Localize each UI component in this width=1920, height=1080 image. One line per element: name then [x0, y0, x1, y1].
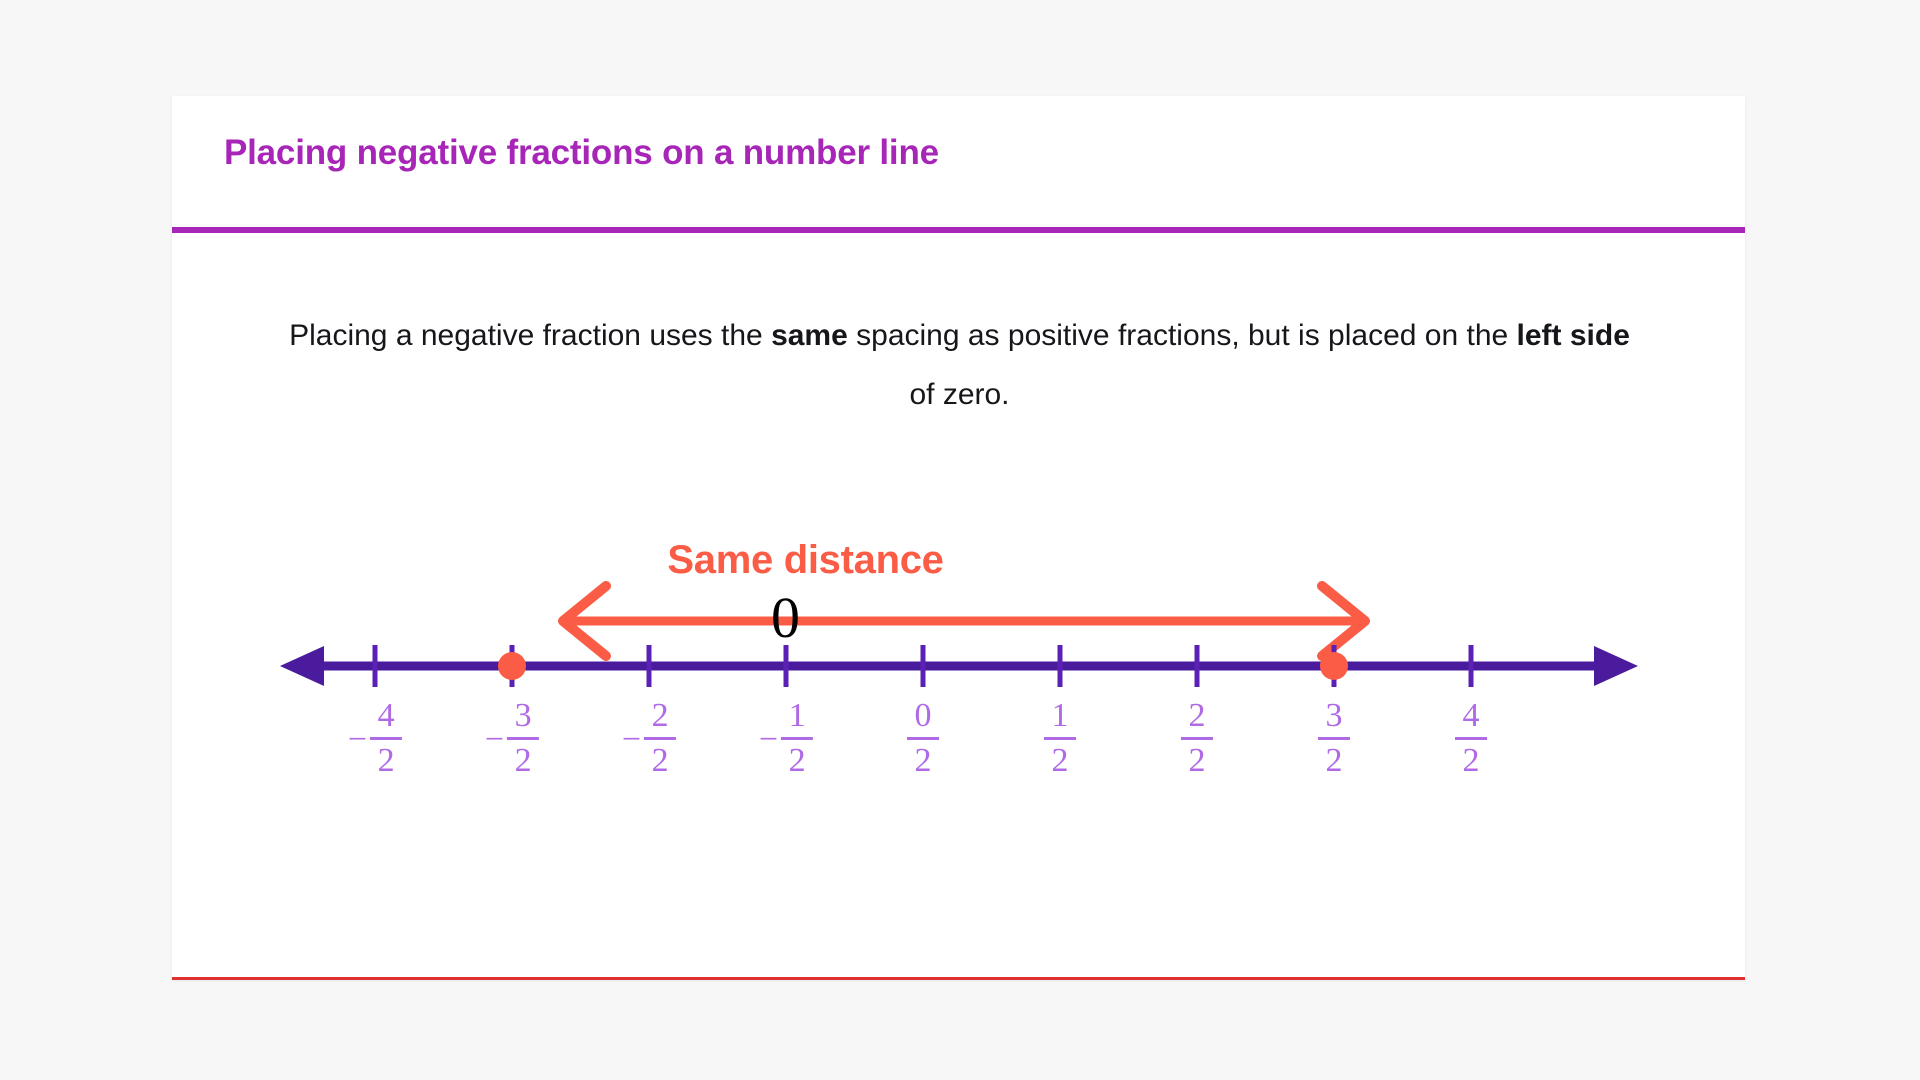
tick-label-one-half: 1 2	[1044, 698, 1076, 779]
fraction: 4 2	[370, 698, 402, 779]
fraction: 4 2	[1455, 698, 1487, 779]
tick-label-negative-four-halves: − 4 2	[348, 698, 402, 779]
fraction-denominator: 2	[378, 743, 395, 779]
fraction-denominator: 2	[789, 743, 806, 779]
fraction-numerator: 3	[1326, 698, 1343, 734]
fraction-bar	[1044, 737, 1076, 740]
fraction-denominator: 2	[1463, 743, 1480, 779]
tick-label-negative-three-halves: − 3 2	[485, 698, 539, 779]
number-line-figure: Same distance 0	[172, 496, 1745, 876]
fraction-denominator: 2	[1189, 743, 1206, 779]
description-line-1: Placing a negative fraction uses the sam…	[289, 319, 1416, 352]
fraction: 0 2	[907, 698, 939, 779]
card-header: Placing negative fractions on a number l…	[172, 96, 1745, 227]
minus-sign: −	[348, 723, 367, 757]
fraction-denominator: 2	[915, 743, 932, 779]
fraction-denominator: 2	[652, 743, 669, 779]
description-bold-same: same	[771, 319, 848, 352]
fraction: 2 2	[1181, 698, 1213, 779]
description-text-1: Placing a negative fraction uses the	[289, 319, 771, 352]
fraction-numerator: 1	[1052, 698, 1069, 734]
tick-label-negative-two-halves: − 2 2	[622, 698, 676, 779]
description-text-3: on the	[1425, 319, 1517, 352]
minus-sign: −	[759, 723, 778, 757]
tick-label-three-halves: 3 2	[1318, 698, 1350, 779]
header-divider	[172, 227, 1745, 233]
fraction-bar	[1318, 737, 1350, 740]
tick-label-four-halves: 4 2	[1455, 698, 1487, 779]
fraction: 1 2	[1044, 698, 1076, 779]
description-bold-left-side: left side	[1517, 319, 1630, 352]
fraction-numerator: 2	[652, 698, 669, 734]
fraction-bar	[370, 737, 402, 740]
fraction-denominator: 2	[1326, 743, 1343, 779]
fraction: 3 2	[1318, 698, 1350, 779]
tick-label-group: − 4 2 − 3 2 −	[172, 496, 1745, 876]
fraction-numerator: 2	[1189, 698, 1206, 734]
fraction-numerator: 1	[789, 698, 806, 734]
fraction-numerator: 4	[1463, 698, 1480, 734]
fraction-bar	[644, 737, 676, 740]
page-title: Placing negative fractions on a number l…	[224, 133, 939, 173]
fraction: 1 2	[781, 698, 813, 779]
fraction-denominator: 2	[1052, 743, 1069, 779]
fraction-numerator: 3	[515, 698, 532, 734]
fraction-bar	[507, 737, 539, 740]
fraction-bar	[907, 737, 939, 740]
fraction-numerator: 4	[378, 698, 395, 734]
fraction: 2 2	[644, 698, 676, 779]
fraction-bar	[1455, 737, 1487, 740]
lesson-card: Placing negative fractions on a number l…	[172, 96, 1745, 980]
tick-label-two-halves: 2 2	[1181, 698, 1213, 779]
tick-label-negative-one-half: − 1 2	[759, 698, 813, 779]
fraction-bar	[1181, 737, 1213, 740]
fraction-denominator: 2	[515, 743, 532, 779]
page-root: Placing negative fractions on a number l…	[0, 0, 1920, 1080]
minus-sign: −	[485, 723, 504, 757]
tick-label-zero-halves: 0 2	[907, 698, 939, 779]
fraction-numerator: 0	[915, 698, 932, 734]
description-text-4: of zero.	[909, 378, 1009, 411]
lesson-description: Placing a negative fraction uses the sam…	[282, 306, 1637, 424]
minus-sign: −	[622, 723, 641, 757]
fraction-bar	[781, 737, 813, 740]
description-text-2: spacing as positive fractions, but is pl…	[848, 319, 1417, 352]
fraction: 3 2	[507, 698, 539, 779]
footer-divider	[172, 977, 1745, 980]
